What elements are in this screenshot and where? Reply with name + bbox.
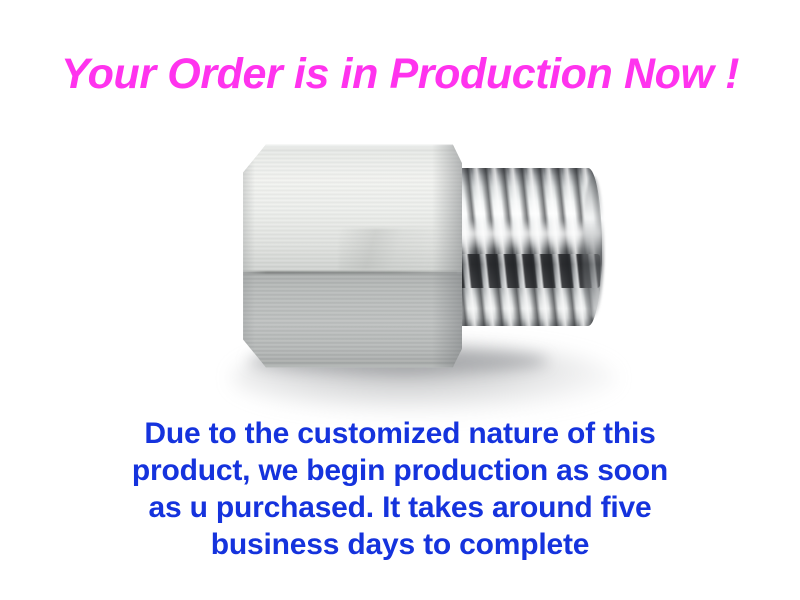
thread-end-cap: [582, 176, 604, 318]
notice-line-2: product, we begin production as soon: [0, 452, 800, 489]
promo-card: Your Order is in Production Now ! Due: [0, 0, 800, 600]
notice-line-3: as u purchased. It takes around five: [0, 489, 800, 526]
thread-ridges: [452, 168, 602, 326]
hex-facet-edge-line: [241, 271, 458, 274]
male-threaded-nipple: [452, 168, 602, 326]
hex-nut-body: [234, 140, 462, 372]
production-notice-text: Due to the customized nature of this pro…: [0, 415, 800, 563]
hex-right-corner-shading: [432, 140, 462, 372]
notice-line-1: Due to the customized nature of this: [0, 415, 800, 452]
hex-top-chamfer: [248, 142, 453, 149]
page-title: Your Order is in Production Now !: [0, 50, 800, 98]
thread-root-shadow-band: [454, 254, 600, 288]
notice-line-4: business days to complete: [0, 526, 800, 563]
product-image: [0, 100, 800, 410]
hex-left-corner-shading: [234, 140, 255, 372]
hex-surface-scuff: [339, 228, 435, 270]
